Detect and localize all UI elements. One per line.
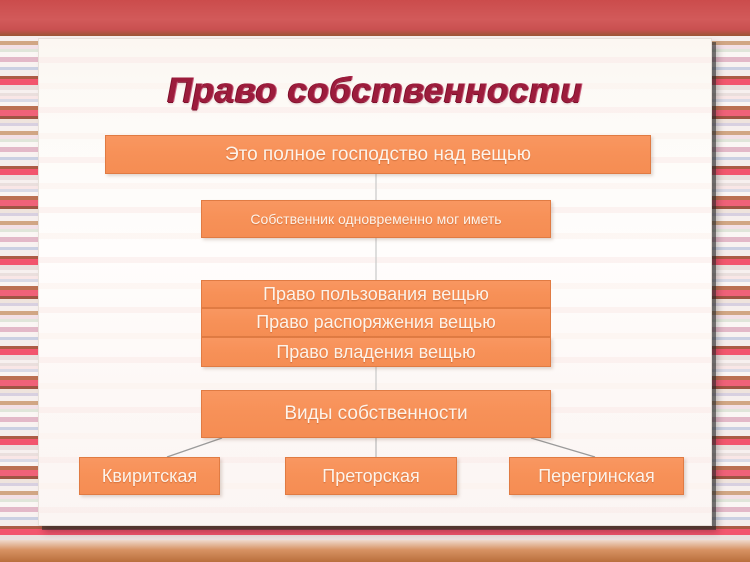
node-type-peregrine: Перегринская <box>509 457 684 495</box>
page-title: Право собственности <box>39 71 711 111</box>
background-bottom-band <box>0 540 750 562</box>
node-right-of-use: Право пользования вещью <box>201 280 551 308</box>
node-full-dominion: Это полное господство над вещью <box>105 135 651 174</box>
node-type-praetorian: Преторская <box>285 457 457 495</box>
slide-panel: Право собственности Это полное господств… <box>38 38 712 526</box>
node-right-of-disposal: Право распоряжения вещью <box>201 308 551 337</box>
node-owner-could-have: Собственник одновременно мог иметь <box>201 200 551 238</box>
node-type-quiritary: Квиритская <box>79 457 220 495</box>
background-top-band <box>0 0 750 36</box>
slide-stage: Право собственности Это полное господств… <box>0 0 750 562</box>
node-types-of-ownership: Виды собственности <box>201 390 551 438</box>
node-right-of-possession: Право владения вещью <box>201 337 551 367</box>
